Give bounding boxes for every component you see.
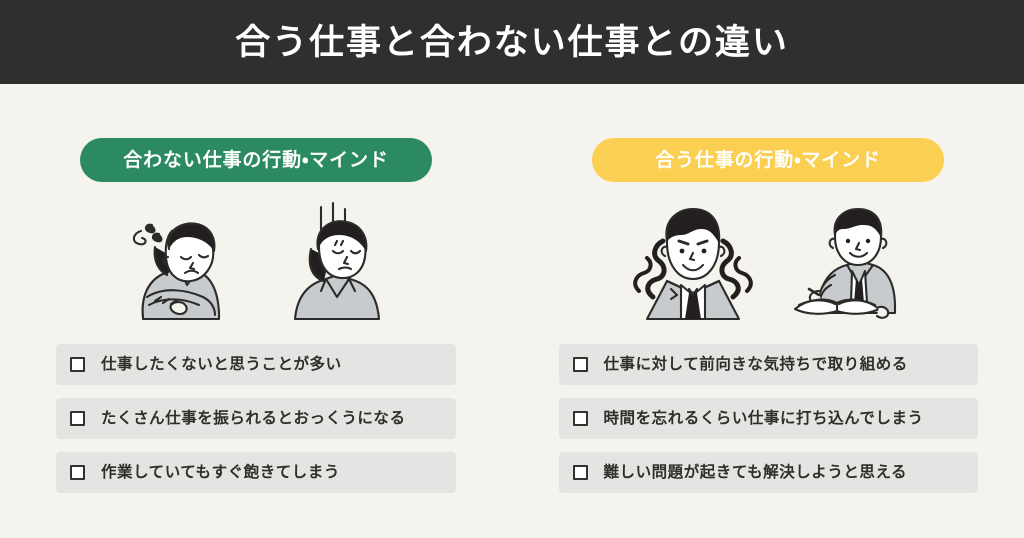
list-item-label: 仕事したくないと思うことが多い xyxy=(101,357,342,373)
checkbox-icon[interactable] xyxy=(70,411,85,426)
comparison-columns: 合わない仕事の行動・マインド xyxy=(0,84,1024,538)
list-item-label: 時間を忘れるくらい仕事に打ち込んでしまう xyxy=(604,411,924,427)
page-title: 合う仕事と合わない仕事との違い xyxy=(235,25,789,60)
man-motivated-icon xyxy=(627,197,759,321)
pill-heading-mismatch: 合わない仕事の行動・マインド xyxy=(80,138,432,182)
illustrations-match xyxy=(568,201,968,321)
pill-heading-mismatch-label: 合わない仕事の行動・マインド xyxy=(123,151,388,170)
checkbox-icon[interactable] xyxy=(70,465,85,480)
header-bar: 合う仕事と合わない仕事との違い xyxy=(0,0,1024,84)
list-item[interactable]: 作業していてもすぐ飽きてしまう xyxy=(56,452,456,493)
list-item[interactable]: 仕事したくないと思うことが多い xyxy=(56,344,456,385)
list-item[interactable]: 難しい問題が起きても解決しようと思える xyxy=(559,452,978,493)
pill-heading-match: 合う仕事の行動・マインド xyxy=(592,138,944,182)
woman-gloomy-icon xyxy=(281,201,393,321)
column-mismatch: 合わない仕事の行動・マインド xyxy=(0,84,512,538)
slide-root: 合う仕事と合わない仕事との違い 合わない仕事の行動・マインド xyxy=(0,0,1024,538)
list-item[interactable]: 時間を忘れるくらい仕事に打ち込んでしまう xyxy=(559,398,978,439)
column-match: 合う仕事の行動・マインド xyxy=(512,84,1024,538)
checkbox-icon[interactable] xyxy=(573,357,588,372)
list-item-label: 難しい問題が起きても解決しようと思える xyxy=(604,465,908,481)
list-item-label: たくさん仕事を振られるとおっくうになる xyxy=(101,411,406,427)
list-item-label: 作業していてもすぐ飽きてしまう xyxy=(101,465,340,481)
checklist-match: 仕事に対して前向きな気持ちで取り組める 時間を忘れるくらい仕事に打ち込んでしまう… xyxy=(559,344,978,493)
checkbox-icon[interactable] xyxy=(573,465,588,480)
illustrations-mismatch xyxy=(56,201,456,321)
woman-arms-crossed-troubled-icon xyxy=(119,201,251,321)
man-reading-book-icon xyxy=(789,203,909,321)
list-item-label: 仕事に対して前向きな気持ちで取り組める xyxy=(604,357,908,373)
pill-heading-match-label: 合う仕事の行動・マインド xyxy=(655,151,881,170)
list-item[interactable]: たくさん仕事を振られるとおっくうになる xyxy=(56,398,456,439)
checklist-mismatch: 仕事したくないと思うことが多い たくさん仕事を振られるとおっくうになる 作業して… xyxy=(56,344,456,493)
checkbox-icon[interactable] xyxy=(573,411,588,426)
checkbox-icon[interactable] xyxy=(70,357,85,372)
list-item[interactable]: 仕事に対して前向きな気持ちで取り組める xyxy=(559,344,978,385)
